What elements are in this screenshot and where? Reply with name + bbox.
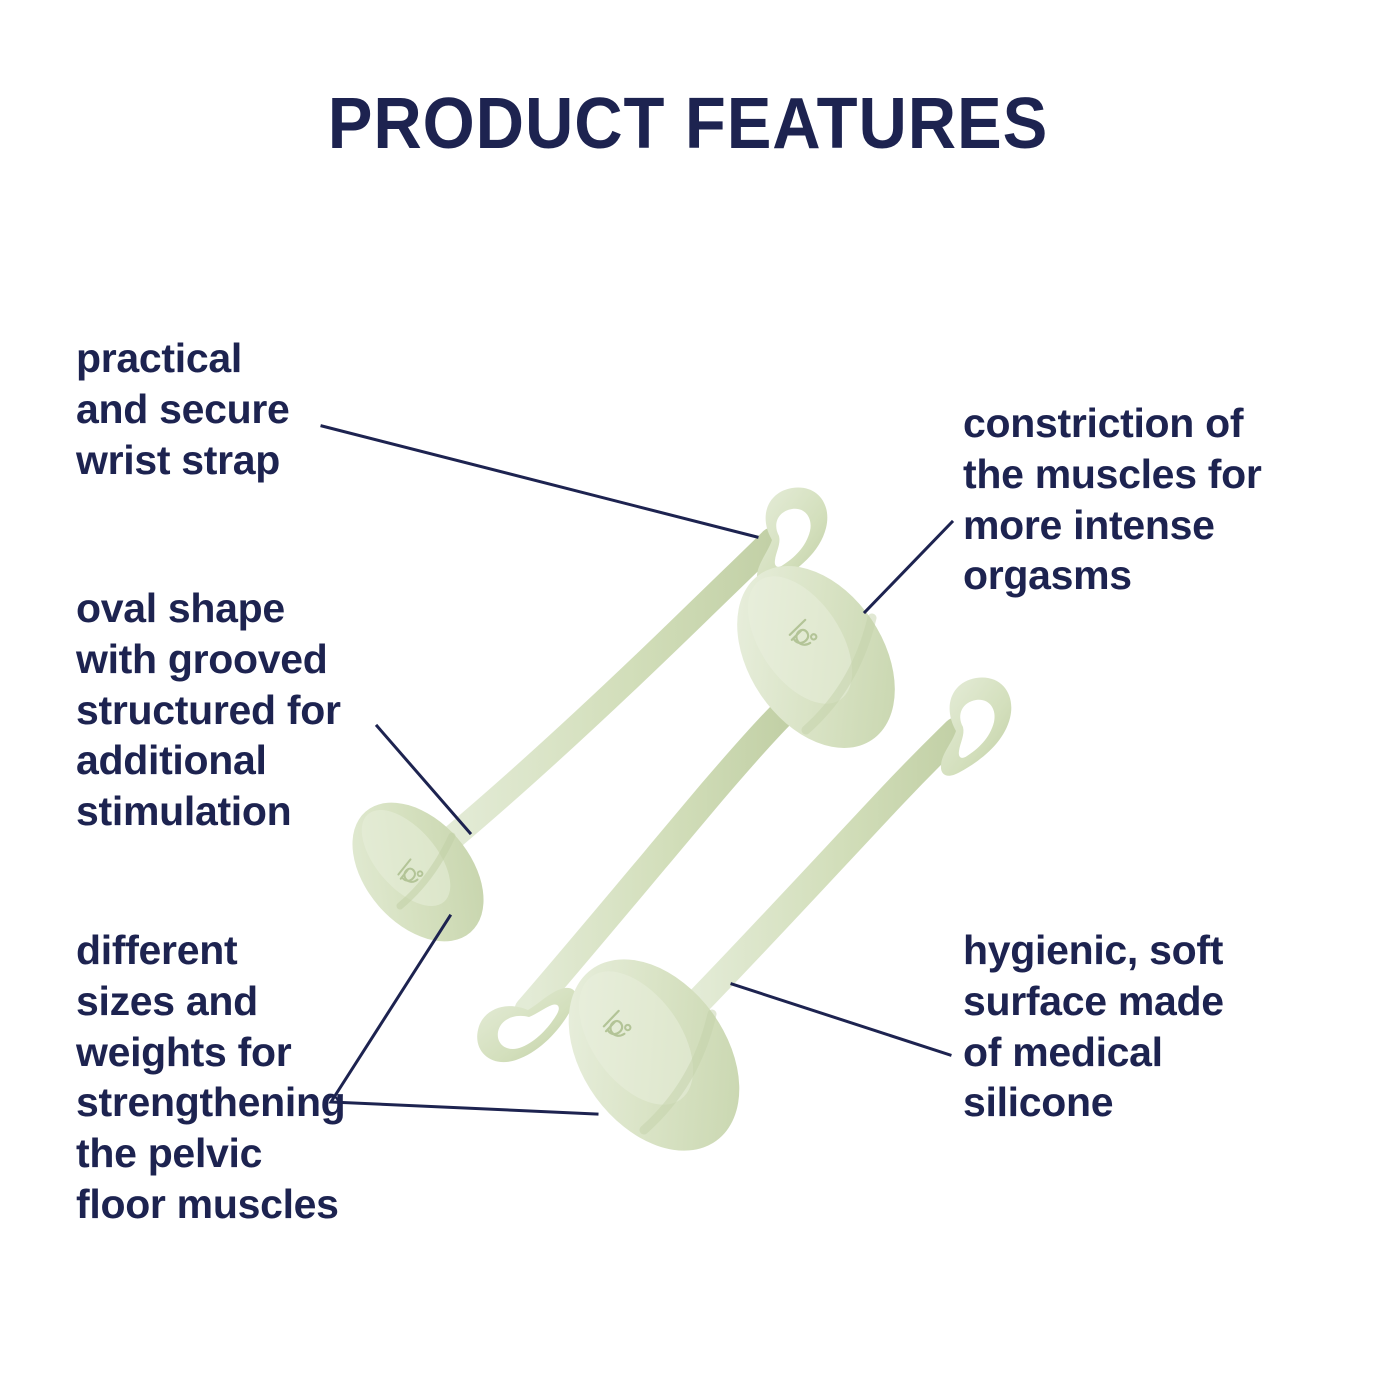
- callout-oval-shape: oval shape with grooved structured for a…: [76, 583, 416, 837]
- hygienic-leader: [732, 984, 950, 1055]
- constriction-leader: [865, 522, 952, 612]
- kegel-ball-medium: [477, 537, 927, 1062]
- leader-lines-group: [322, 426, 952, 1114]
- satisfyer-logo-icon: [601, 1011, 632, 1042]
- callout-hygienic: hygienic, soft surface made of medical s…: [963, 925, 1313, 1128]
- callout-wrist-strap: practical and secure wrist strap: [76, 333, 406, 485]
- kegel-ball-large: [533, 677, 1011, 1183]
- satisfyer-logo-icon: [395, 859, 423, 887]
- page-title: PRODUCT FEATURES: [48, 88, 1328, 160]
- callout-sizes-weights: different sizes and weights for strength…: [76, 925, 416, 1230]
- callout-constriction: constriction of the muscles for more int…: [963, 398, 1313, 601]
- satisfyer-logo-icon: [787, 620, 818, 651]
- product-features-infographic: PRODUCT FEATURES: [0, 0, 1376, 1376]
